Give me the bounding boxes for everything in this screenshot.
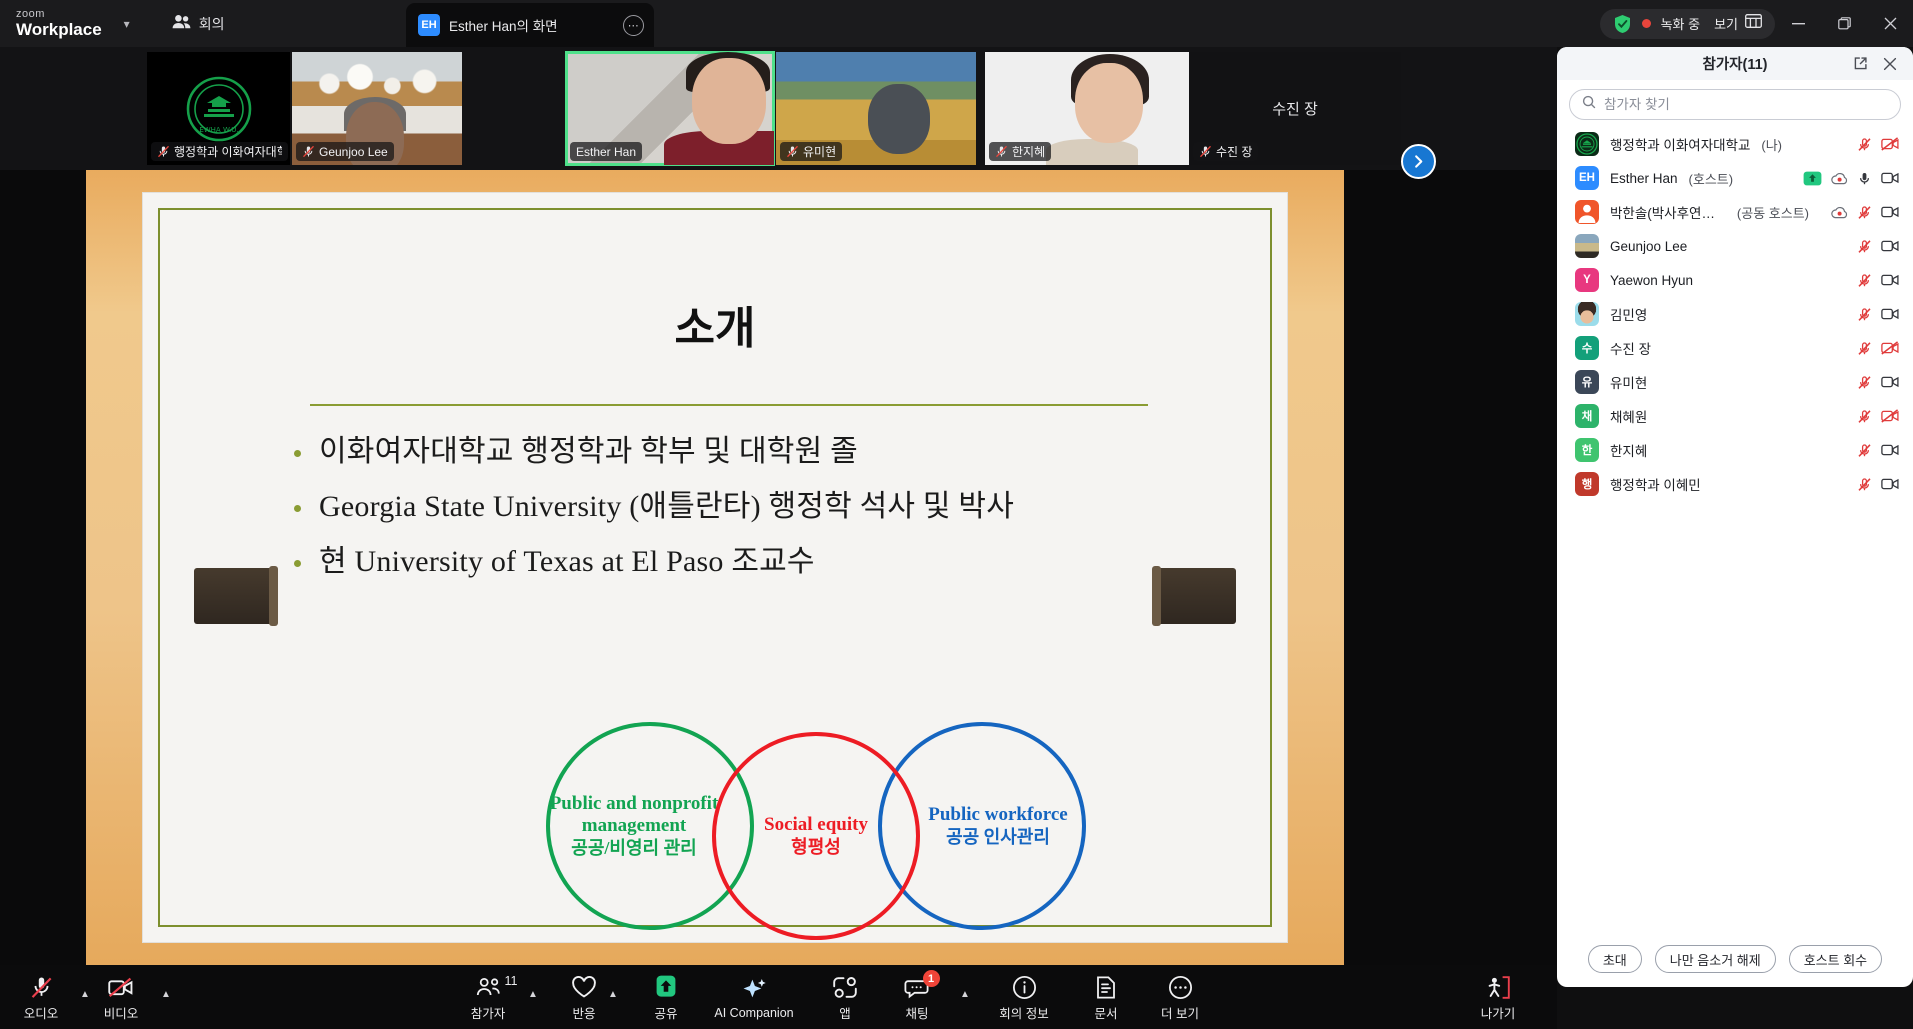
- ewha-logo-icon: EWHA W.U.: [176, 66, 262, 152]
- participant-name: 행정학과 이혜민: [1610, 474, 1701, 494]
- filmstrip-next-button[interactable]: [1401, 144, 1436, 179]
- bullet-dot-icon: [294, 505, 301, 512]
- bullet-dot-icon: [294, 560, 301, 567]
- reactions-label: 반응: [572, 1003, 595, 1022]
- more-label: 더 보기: [1161, 1003, 1199, 1022]
- mic-icon[interactable]: [1857, 171, 1872, 186]
- slide-divider: [310, 404, 1148, 406]
- tile-name: 행정학과 이화여자대학교: [174, 143, 282, 160]
- participant-row[interactable]: 김민영: [1557, 297, 1913, 331]
- participant-avatar: [1575, 302, 1599, 326]
- recording-label: 녹화 중: [1661, 14, 1701, 33]
- participant-row[interactable]: 유유미현: [1557, 365, 1913, 399]
- mic-muted-icon[interactable]: [1857, 307, 1872, 322]
- chat-options-chevron-up-icon[interactable]: ▲: [960, 989, 970, 1000]
- participant-row[interactable]: 행행정학과 이혜민: [1557, 467, 1913, 501]
- participant-avatar: 유: [1575, 370, 1599, 394]
- participant-role: (호스트): [1689, 169, 1734, 188]
- recording-dot-icon: [1642, 19, 1651, 28]
- participants-icon: 11: [476, 974, 501, 1000]
- camera-icon[interactable]: [1881, 307, 1899, 321]
- participant-name: Esther Han: [1610, 171, 1678, 186]
- venn-label-en: Public and nonprofit management: [534, 793, 734, 838]
- slide-bullet-item: 이화여자대학교 행정학과 학부 및 대학원 졸: [294, 430, 1208, 473]
- minimize-button[interactable]: [1775, 0, 1821, 47]
- reactions-button[interactable]: 반응: [555, 971, 613, 1025]
- slide-bullet-text: Georgia State University (애틀란타) 행정학 석사 및…: [319, 485, 1014, 528]
- tile-name: 유미현: [803, 143, 836, 160]
- meetings-tab-label: 회의: [199, 14, 225, 34]
- slide-bullet-text: 이화여자대학교 행정학과 학부 및 대학원 졸: [319, 430, 858, 473]
- bullet-dot-icon: [294, 450, 301, 457]
- mic-muted-icon: [1199, 145, 1212, 158]
- participant-avatar: [1575, 132, 1599, 156]
- participant-name: 채혜원: [1610, 406, 1647, 426]
- share-button[interactable]: 공유: [637, 971, 695, 1025]
- mic-muted-icon[interactable]: [1857, 239, 1872, 254]
- mic-muted-icon[interactable]: [1857, 341, 1872, 356]
- mic-muted-icon[interactable]: [1857, 409, 1872, 424]
- recording-cloud-icon[interactable]: [1831, 206, 1848, 219]
- leave-button[interactable]: 나가기: [1467, 971, 1529, 1025]
- venn-label-ko: 형평성: [764, 837, 868, 858]
- audio-label: 오디오: [24, 1003, 59, 1022]
- share-label: 공유: [654, 1003, 677, 1022]
- participant-row[interactable]: 행정학과 이화여자대학교 (나): [1557, 127, 1913, 161]
- chat-button[interactable]: 1 채팅: [888, 971, 946, 1025]
- slide-bullet-item: Georgia State University (애틀란타) 행정학 석사 및…: [294, 485, 1208, 528]
- participant-status-icons: [1857, 307, 1899, 322]
- meetings-tab[interactable]: 회의: [172, 14, 225, 34]
- participant-status-icons: [1857, 273, 1899, 288]
- mic-muted-icon[interactable]: [1857, 375, 1872, 390]
- venn-label-en: Social equity: [764, 814, 868, 836]
- slide-decoration-left: [194, 568, 274, 624]
- participant-avatar: Y: [1575, 268, 1599, 292]
- people-icon: [172, 14, 191, 34]
- video-filmstrip: EWHA W.U. 행정학과 이화여자대학교 Geunjoo Lee Esthe…: [0, 47, 1557, 170]
- zoom-logo: zoom Workplace: [16, 9, 102, 38]
- reactions-options-chevron-up-icon[interactable]: ▲: [608, 989, 618, 1000]
- mic-muted-icon[interactable]: [1857, 205, 1872, 220]
- docs-label: 문서: [1094, 1003, 1117, 1022]
- tile-name-chip: 행정학과 이화여자대학교: [151, 142, 288, 161]
- video-tile-active[interactable]: Esther Han: [566, 52, 774, 165]
- mic-muted-icon: [29, 974, 54, 1000]
- participant-row[interactable]: 한한지혜: [1557, 433, 1913, 467]
- participant-name: 유미현: [1610, 372, 1647, 392]
- camera-icon[interactable]: [1881, 443, 1899, 457]
- ewha-seal-avatar-icon: [1575, 132, 1599, 156]
- participants-panel: 참가자(11) 행정학과 이화여자대학교 (나)EHEsther Han (호스…: [1557, 47, 1913, 987]
- pop-out-icon[interactable]: [1849, 53, 1871, 75]
- placeholder-name: 수진 장: [1272, 98, 1318, 119]
- tile-name: 수진 장: [1216, 143, 1252, 160]
- sharing-screen-icon[interactable]: [1803, 171, 1822, 186]
- participant-row[interactable]: EHEsther Han (호스트): [1557, 161, 1913, 195]
- participant-avatar: EH: [1575, 166, 1599, 190]
- participant-role: (공동 호스트): [1737, 203, 1809, 222]
- zoom-brand-line2: Workplace: [16, 21, 102, 38]
- participant-avatar: 한: [1575, 438, 1599, 462]
- venn-label-ko: 공공/비영리 관리: [534, 838, 734, 859]
- mic-muted-icon: [786, 145, 799, 158]
- participant-row[interactable]: Geunjoo Lee: [1557, 229, 1913, 263]
- video-tile[interactable]: 유미현: [776, 52, 976, 165]
- chevron-right-icon: [1411, 154, 1426, 169]
- participant-status-icons: [1857, 375, 1899, 390]
- shared-content-stage: 소개 이화여자대학교 행정학과 학부 및 대학원 졸 Georgia State…: [0, 170, 1557, 965]
- camera-icon[interactable]: [1881, 239, 1899, 253]
- tile-name-chip: Esther Han: [570, 142, 642, 161]
- docs-button[interactable]: 문서: [1077, 971, 1135, 1025]
- audio-options-chevron-up-icon[interactable]: ▲: [80, 989, 90, 1000]
- meeting-info-label: 회의 정보: [999, 1003, 1048, 1022]
- mic-muted-icon[interactable]: [1857, 443, 1872, 458]
- search-icon: [1582, 95, 1596, 114]
- participants-search-box[interactable]: [1569, 89, 1901, 120]
- participant-name: 한지혜: [1610, 440, 1647, 460]
- apps-button[interactable]: 앱: [816, 971, 874, 1025]
- participants-search-wrap: [1557, 80, 1913, 127]
- tile-name: Esther Han: [576, 145, 636, 159]
- participant-row[interactable]: YYaewon Hyun: [1557, 263, 1913, 297]
- share-screen-icon: [652, 974, 680, 1000]
- venn-label-ko: 공공 인사관리: [928, 827, 1068, 848]
- tile-name-chip: Geunjoo Lee: [296, 142, 394, 161]
- slide-bullet-item: 현 University of Texas at El Paso 조교수: [294, 540, 1208, 583]
- maximize-button[interactable]: [1821, 0, 1867, 47]
- zoom-brand-line1: zoom: [16, 9, 102, 20]
- leave-label: 나가기: [1481, 1003, 1516, 1022]
- tile-name-chip: 유미현: [780, 142, 842, 161]
- reclaim-host-button[interactable]: 호스트 회수: [1789, 945, 1882, 973]
- shared-screen-tab-title: Esther Han의 화면: [449, 15, 558, 35]
- participant-status-icons: [1857, 239, 1899, 254]
- chat-label: 채팅: [905, 1003, 928, 1022]
- participants-button[interactable]: 11 참가자: [452, 971, 524, 1025]
- venn-circle-red: Social equity 형평성: [712, 732, 920, 940]
- participants-list[interactable]: 행정학과 이화여자대학교 (나)EHEsther Han (호스트)박한솔(박사…: [1557, 127, 1913, 931]
- shared-screen-tab[interactable]: EH Esther Han의 화면 ⋯: [406, 3, 654, 47]
- chat-icon: 1: [904, 974, 931, 1000]
- person-avatar-icon: [1575, 200, 1599, 224]
- venn-label-en: Public workforce: [928, 804, 1068, 826]
- chat-unread-badge: 1: [923, 970, 940, 987]
- video-tile[interactable]: EWHA W.U. 행정학과 이화여자대학교: [147, 52, 290, 165]
- participant-status-icons: [1857, 477, 1899, 492]
- participant-status-icons: [1857, 443, 1899, 458]
- video-tile[interactable]: 한지혜: [985, 52, 1189, 165]
- video-label: 비디오: [104, 1003, 139, 1022]
- slide-title: 소개: [142, 292, 1288, 356]
- participants-panel-footer: 초대 나만 음소거 해제 호스트 회수: [1557, 931, 1913, 987]
- recording-cloud-icon[interactable]: [1831, 172, 1848, 185]
- leave-icon: [1484, 974, 1512, 1000]
- camera-icon[interactable]: [1881, 205, 1899, 219]
- ai-companion-button[interactable]: AI Companion: [700, 971, 808, 1025]
- participant-status-icons: [1857, 137, 1899, 152]
- participants-panel-header: 참가자(11): [1557, 47, 1913, 80]
- tile-name-chip: 한지혜: [989, 142, 1051, 161]
- venn-diagram: Public and nonprofit management 공공/비영리 관…: [142, 722, 1288, 947]
- apps-label: 앱: [839, 1003, 851, 1022]
- mic-muted-icon[interactable]: [1857, 273, 1872, 288]
- camera-muted-icon: [108, 974, 135, 1000]
- slide-bullet-text: 현 University of Texas at El Paso 조교수: [319, 540, 815, 583]
- more-options-icon[interactable]: ⋯: [623, 15, 644, 36]
- layout-grid-icon: [1745, 14, 1762, 33]
- shield-icon: [1613, 14, 1632, 34]
- camera-icon[interactable]: [1881, 171, 1899, 185]
- mic-muted-icon: [157, 145, 170, 158]
- meeting-info-button[interactable]: 회의 정보: [985, 971, 1063, 1025]
- participant-avatar: [1575, 234, 1599, 258]
- workspace-chevron-down-icon[interactable]: ▾: [124, 17, 130, 31]
- recording-status-pill[interactable]: 녹화 중 보기: [1600, 9, 1775, 39]
- camera-off-icon[interactable]: [1881, 341, 1899, 355]
- participant-status-icons: [1857, 409, 1899, 424]
- participant-name: 행정학과 이화여자대학교: [1610, 134, 1750, 154]
- slide-bullet-list: 이화여자대학교 행정학과 학부 및 대학원 졸 Georgia State Un…: [294, 430, 1208, 596]
- participant-role: (나): [1761, 135, 1782, 154]
- participant-avatar: 행: [1575, 472, 1599, 496]
- slide-paper: 소개 이화여자대학교 행정학과 학부 및 대학원 졸 Georgia State…: [142, 192, 1288, 943]
- participant-status-icons: [1831, 205, 1899, 220]
- mic-muted-icon[interactable]: [1857, 477, 1872, 492]
- participant-row[interactable]: 채채혜원: [1557, 399, 1913, 433]
- participant-avatar: 채: [1575, 404, 1599, 428]
- audio-button[interactable]: 오디오: [12, 971, 70, 1025]
- view-label: 보기: [1714, 14, 1738, 33]
- close-icon[interactable]: [1879, 53, 1901, 75]
- participant-avatar: 수: [1575, 336, 1599, 360]
- tile-name-chip: 수진 장: [1193, 142, 1258, 161]
- title-bar: zoom Workplace ▾ 회의 EH Esther Han의 화면 ⋯: [0, 0, 1913, 47]
- participant-name: 수진 장: [1610, 338, 1651, 358]
- participants-options-chevron-up-icon[interactable]: ▲: [528, 989, 538, 1000]
- camera-off-icon[interactable]: [1881, 137, 1899, 151]
- mic-muted-icon[interactable]: [1857, 137, 1872, 152]
- document-icon: [1095, 974, 1117, 1000]
- tile-name: 한지혜: [1012, 143, 1045, 160]
- invite-button[interactable]: 초대: [1588, 945, 1642, 973]
- participant-name: 박한솔(박사후연구…: [1610, 202, 1726, 222]
- participant-name: Yaewon Hyun: [1610, 273, 1693, 288]
- participants-count: 11: [505, 974, 518, 988]
- more-button[interactable]: 더 보기: [1146, 971, 1214, 1025]
- heart-icon: [571, 974, 597, 1000]
- presentation-slide: 소개 이화여자대학교 행정학과 학부 및 대학원 졸 Georgia State…: [86, 170, 1344, 965]
- participants-label: 참가자: [471, 1003, 506, 1022]
- more-horizontal-icon: [1168, 974, 1193, 1000]
- camera-off-icon[interactable]: [1881, 409, 1899, 423]
- apps-icon: [832, 974, 858, 1000]
- close-button[interactable]: [1867, 0, 1913, 47]
- view-button[interactable]: 보기: [1714, 14, 1762, 33]
- mic-muted-icon: [995, 145, 1008, 158]
- meeting-toolbar: 오디오 ▲ 비디오 ▲ 11 참가자 ▲ 반응 ▲ 공유: [0, 965, 1557, 1029]
- video-options-chevron-up-icon[interactable]: ▲: [161, 989, 171, 1000]
- participant-avatar: [1575, 200, 1599, 224]
- ai-companion-label: AI Companion: [714, 1006, 793, 1020]
- video-tile-placeholder[interactable]: 수진 장 수진 장: [1189, 52, 1401, 165]
- camera-icon[interactable]: [1881, 375, 1899, 389]
- participant-name: Geunjoo Lee: [1610, 239, 1687, 254]
- svg-text:EWHA W.U.: EWHA W.U.: [199, 126, 238, 134]
- camera-icon[interactable]: [1881, 273, 1899, 287]
- info-icon: [1012, 974, 1037, 1000]
- slide-decoration-right: [1156, 568, 1236, 624]
- mic-muted-icon: [302, 145, 315, 158]
- tile-name: Geunjoo Lee: [319, 145, 388, 159]
- window-controls-group: 녹화 중 보기: [1600, 0, 1913, 47]
- participants-panel-title: 참가자(11): [1702, 53, 1767, 74]
- unmute-me-button[interactable]: 나만 음소거 해제: [1655, 945, 1776, 973]
- participant-status-icons: [1803, 171, 1899, 186]
- shared-screen-avatar: EH: [418, 14, 440, 36]
- participant-row[interactable]: 수수진 장: [1557, 331, 1913, 365]
- participant-status-icons: [1857, 341, 1899, 356]
- video-tile[interactable]: Geunjoo Lee: [292, 52, 462, 165]
- video-button[interactable]: 비디오: [92, 971, 150, 1025]
- participant-name: 김민영: [1610, 304, 1647, 324]
- participant-row[interactable]: 박한솔(박사후연구… (공동 호스트): [1557, 195, 1913, 229]
- sparkle-icon: [741, 977, 767, 1003]
- camera-icon[interactable]: [1881, 477, 1899, 491]
- participants-search-input[interactable]: [1604, 97, 1888, 112]
